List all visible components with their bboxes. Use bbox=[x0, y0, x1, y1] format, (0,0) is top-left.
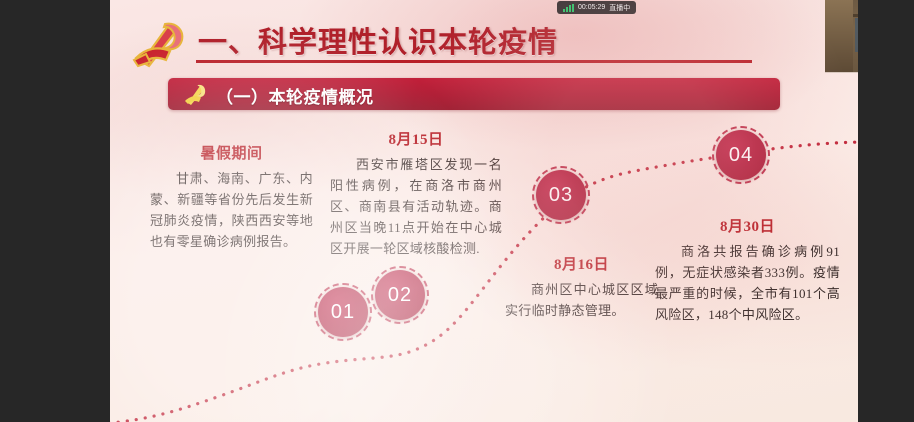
node-label: 02 bbox=[375, 270, 425, 320]
block-heading: 8月15日 bbox=[330, 128, 502, 149]
presenter-webcam-view[interactable] bbox=[825, 0, 858, 73]
timeline-block-3: 8月16日 商州区中心城区区域实行临时静态管理。 bbox=[505, 253, 658, 321]
block-body: 西安市雁塔区发现一名阳性病例，在商洛市商州区、商南县有活动轨迹。商州区当晚11点… bbox=[330, 154, 502, 259]
signal-bars-icon bbox=[563, 4, 574, 12]
presentation-slide: 一、科学理性认识本轮疫情 （一）本轮疫情概况 01 02 bbox=[110, 0, 858, 422]
block-body: 商洛共报告确诊病例91例，无症状感染者333例。疫情最严重的时候，全市有101个… bbox=[655, 241, 840, 325]
block-body: 商州区中心城区区域实行临时静态管理。 bbox=[505, 279, 658, 321]
cpc-party-emblem-icon bbox=[182, 82, 208, 106]
live-status-badge: 00:05:29 直播中 bbox=[557, 1, 636, 14]
timeline-block-1: 暑假期间 甘肃、海南、广东、内蒙、新疆等省份先后发生新冠肺炎疫情，陕西西安等地也… bbox=[150, 142, 313, 252]
live-status-text: 直播中 bbox=[609, 3, 630, 13]
title-underline bbox=[196, 60, 752, 63]
block-body: 甘肃、海南、广东、内蒙、新疆等省份先后发生新冠肺炎疫情，陕西西安等地也有零星确诊… bbox=[150, 168, 313, 252]
timeline-node-03[interactable]: 03 bbox=[532, 166, 590, 224]
screen: 一、科学理性认识本轮疫情 （一）本轮疫情概况 01 02 bbox=[0, 0, 914, 422]
timeline-node-04[interactable]: 04 bbox=[712, 126, 770, 184]
block-heading: 暑假期间 bbox=[150, 142, 313, 163]
cabinet-glass bbox=[855, 18, 858, 52]
timeline-node-02[interactable]: 02 bbox=[371, 266, 429, 324]
block-heading: 8月30日 bbox=[655, 215, 840, 236]
cabinet-left bbox=[825, 0, 853, 72]
live-timer: 00:05:29 bbox=[578, 4, 605, 11]
section-subtitle-bar: （一）本轮疫情概况 bbox=[168, 78, 780, 110]
block-heading: 8月16日 bbox=[505, 253, 658, 274]
slide-header: 一、科学理性认识本轮疫情 bbox=[110, 10, 858, 70]
cpc-party-emblem-icon bbox=[128, 18, 190, 68]
page-title: 一、科学理性认识本轮疫情 bbox=[198, 19, 558, 61]
section-subtitle-text: （一）本轮疫情概况 bbox=[216, 83, 374, 108]
timeline-block-2: 8月15日 西安市雁塔区发现一名阳性病例，在商洛市商州区、商南县有活动轨迹。商州… bbox=[330, 128, 502, 259]
node-label: 04 bbox=[716, 130, 766, 180]
node-label: 01 bbox=[318, 287, 368, 337]
timeline-node-01[interactable]: 01 bbox=[314, 283, 372, 341]
node-label: 03 bbox=[536, 170, 586, 220]
timeline-block-4: 8月30日 商洛共报告确诊病例91例，无症状感染者333例。疫情最严重的时候，全… bbox=[655, 215, 840, 325]
shelf-line bbox=[853, 14, 858, 17]
